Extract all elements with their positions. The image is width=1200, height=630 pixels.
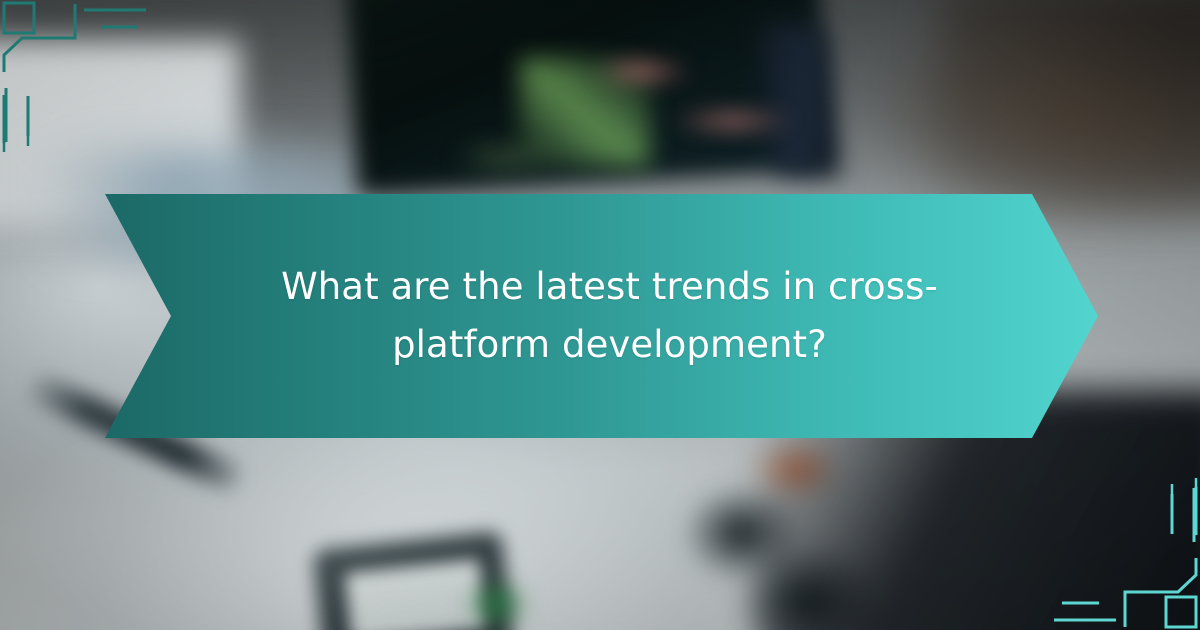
question-heading: What are the latest trends in cross-plat… — [230, 258, 990, 373]
share-card-canvas: What are the latest trends in cross-plat… — [0, 0, 1200, 630]
question-heading-line-2: development? — [562, 323, 827, 366]
question-banner: What are the latest trends in cross-plat… — [105, 194, 1098, 438]
